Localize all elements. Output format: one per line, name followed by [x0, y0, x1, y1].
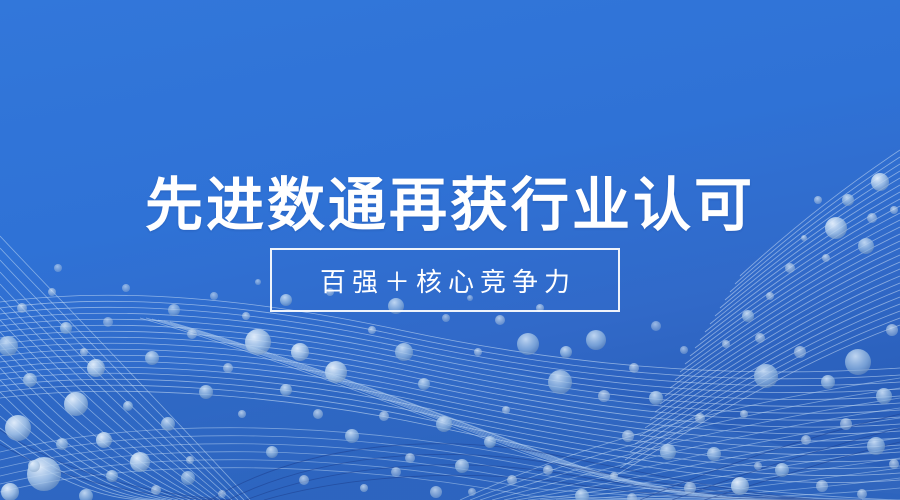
decorative-background — [0, 0, 900, 500]
poster-canvas: 先进数通再获行业认可 百强＋核心竞争力 — [0, 0, 900, 500]
